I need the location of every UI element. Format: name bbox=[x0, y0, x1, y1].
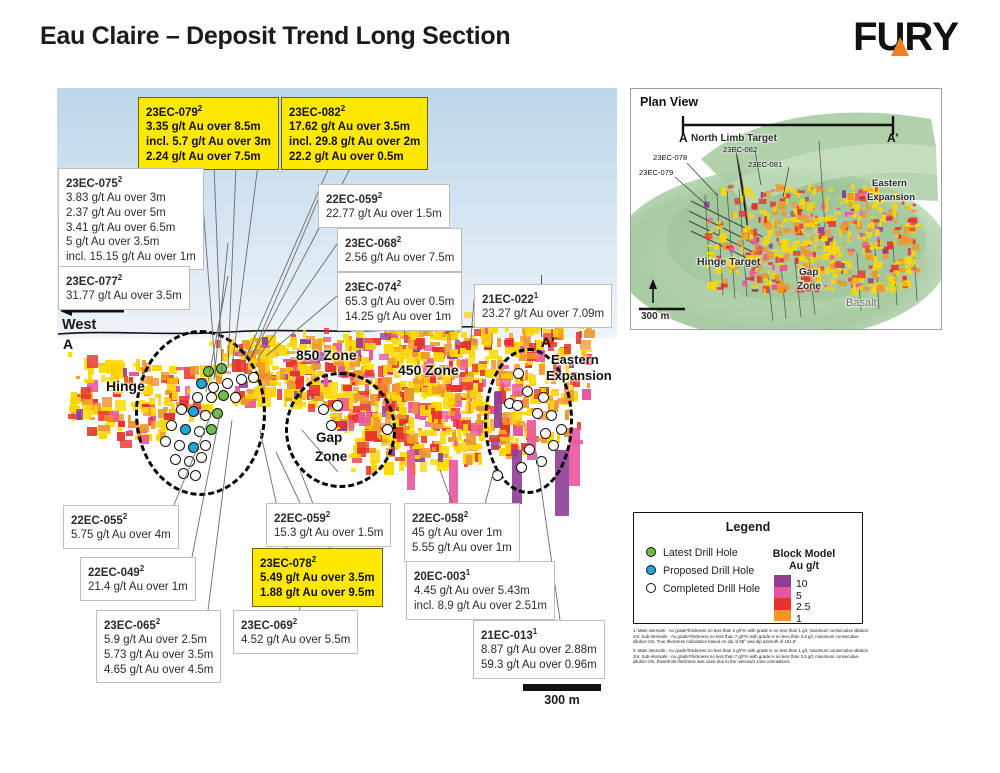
plan-view-inset: N 300 m A A' North Limb TargetEasternExp… bbox=[630, 88, 942, 330]
plan-block-model-cell bbox=[764, 289, 766, 296]
plan-block-model-cell bbox=[721, 284, 728, 288]
plan-block-model-cell bbox=[893, 210, 896, 217]
block-model-cell bbox=[268, 376, 278, 380]
drill-hole-marker-completed[interactable] bbox=[524, 444, 535, 455]
logo-accent-wedge: R bbox=[904, 17, 932, 57]
block-model-cell bbox=[446, 429, 455, 432]
callout-23ec-069: 23EC-06924.52 g/t Au over 5.5m bbox=[233, 610, 358, 654]
plan-block-model-cell bbox=[809, 202, 816, 207]
block-model-cell bbox=[404, 388, 413, 401]
plan-block-model-cell bbox=[878, 240, 881, 247]
block-model-cell bbox=[576, 332, 580, 344]
zone-label-450-zone: 450 Zone bbox=[398, 362, 459, 378]
drill-hole-marker-completed[interactable] bbox=[200, 440, 211, 451]
plan-block-model-cell bbox=[772, 265, 775, 270]
block-model-cell bbox=[115, 400, 126, 412]
plan-block-model-cell bbox=[774, 221, 777, 229]
plan-block-model-cell bbox=[862, 243, 869, 248]
plan-block-model-cell bbox=[915, 224, 921, 227]
block-model-cell bbox=[283, 359, 291, 362]
plan-block-model-cell bbox=[830, 259, 835, 263]
plan-block-model-cell bbox=[741, 246, 744, 254]
drill-hole-marker-latest[interactable] bbox=[216, 363, 227, 374]
block-model-cell bbox=[474, 329, 481, 335]
block-model-cell bbox=[461, 382, 473, 391]
plan-block-model-cell bbox=[792, 201, 797, 207]
callout-22ec-059: 22EC-059215.3 g/t Au over 1.5m bbox=[266, 503, 391, 547]
block-model-cell bbox=[461, 348, 466, 354]
plan-block-model-cell bbox=[803, 249, 811, 255]
callout-interval: 65.3 g/t Au over 0.5m bbox=[345, 295, 454, 310]
block-model-cell bbox=[478, 395, 482, 405]
block-model-cell bbox=[431, 422, 435, 429]
block-model-cell bbox=[484, 341, 491, 347]
plan-block-model-cell bbox=[878, 277, 880, 280]
plan-block-model-cell bbox=[830, 264, 836, 269]
plan-block-model-cell bbox=[771, 189, 775, 191]
block-model-high-grade-column bbox=[449, 460, 458, 504]
block-model-cell bbox=[497, 338, 501, 347]
block-model-cell bbox=[272, 366, 280, 370]
zone-label-gap: Gap bbox=[316, 430, 342, 445]
scale-bar: 300 m bbox=[523, 684, 601, 707]
plan-block-model-cell bbox=[717, 287, 724, 290]
plan-block-model-cell bbox=[751, 194, 755, 197]
callout-hole-id: 22EC-0592 bbox=[326, 189, 442, 207]
block-model-cell bbox=[379, 354, 389, 360]
callout-interval: 2.37 g/t Au over 5m bbox=[66, 206, 196, 221]
callout-interval: 14.25 g/t Au over 1m bbox=[345, 310, 454, 325]
plan-block-model-cell bbox=[775, 275, 780, 278]
plan-block-model-cell bbox=[766, 223, 773, 230]
drill-hole-marker-completed[interactable] bbox=[200, 410, 211, 421]
drill-hole-marker-latest[interactable] bbox=[212, 408, 223, 419]
plan-block-model-cell bbox=[839, 197, 842, 199]
drill-hole-marker-completed[interactable] bbox=[192, 392, 203, 403]
plan-block-model-cell bbox=[807, 226, 812, 230]
drill-hole-marker-completed[interactable] bbox=[230, 392, 241, 403]
plan-block-model-cell bbox=[889, 286, 897, 293]
plan-block-model-cell bbox=[875, 262, 882, 268]
plan-block-model-cell bbox=[811, 213, 814, 217]
plan-block-model-cell bbox=[862, 211, 867, 218]
block-model-cell bbox=[303, 330, 306, 337]
callout-interval: incl. 15.15 g/t Au over 1m bbox=[66, 250, 196, 265]
block-model-cell bbox=[582, 389, 592, 399]
block-model-cell bbox=[365, 370, 374, 377]
plan-block-model-cell bbox=[764, 216, 767, 223]
plan-block-model-cell bbox=[858, 235, 860, 239]
block-model-cell bbox=[407, 436, 416, 443]
block-model-cell bbox=[260, 345, 270, 348]
block-model-cell bbox=[277, 389, 282, 400]
plan-block-model-cell bbox=[912, 244, 920, 251]
legend-completed-hole-icon bbox=[646, 583, 656, 593]
plan-block-model-cell bbox=[719, 235, 727, 242]
plan-block-model-cell bbox=[881, 215, 885, 222]
callout-interval: 45 g/t Au over 1m bbox=[412, 526, 512, 541]
plan-label-north-limb-target: North Limb Target bbox=[691, 133, 777, 144]
block-model-cell bbox=[476, 406, 484, 411]
plan-block-model-cell bbox=[753, 229, 757, 237]
block-model-cell bbox=[399, 462, 404, 470]
block-model-cell bbox=[267, 349, 277, 357]
plan-block-model-cell bbox=[867, 207, 872, 210]
block-model-cell bbox=[469, 350, 475, 358]
callout-23ec-082: 23EC-082217.62 g/t Au over 3.5mincl. 29.… bbox=[281, 97, 428, 170]
block-model-cell bbox=[489, 350, 498, 360]
drill-hole-marker-completed[interactable] bbox=[174, 440, 185, 451]
plan-block-model-cell bbox=[729, 247, 734, 252]
block-model-cell bbox=[129, 372, 138, 376]
legend-item-label: Latest Drill Hole bbox=[663, 547, 738, 559]
plan-block-model-cell bbox=[814, 244, 817, 251]
plan-block-model-cell bbox=[895, 227, 901, 230]
plan-view-scale-label: 300 m bbox=[641, 311, 669, 322]
callout-22ec-055: 22EC-05525.75 g/t Au over 4m bbox=[63, 505, 179, 549]
legend-box: Legend Latest Drill HoleProposed Drill H… bbox=[633, 512, 863, 624]
callout-interval: 31.77 g/t Au over 3.5m bbox=[66, 289, 182, 304]
plan-block-model-cell bbox=[825, 197, 830, 200]
block-model-cell bbox=[419, 448, 431, 458]
block-model-cell bbox=[505, 338, 514, 347]
callout-20ec-003: 20EC-00314.45 g/t Au over 5.43mincl. 8.9… bbox=[406, 561, 555, 620]
drill-hole-marker-completed[interactable] bbox=[326, 420, 337, 431]
block-model-cell bbox=[395, 415, 407, 419]
plan-block-model-cell bbox=[814, 218, 819, 223]
drill-hole-marker-completed[interactable] bbox=[556, 424, 567, 435]
plan-label-expansion: Expansion bbox=[867, 192, 915, 203]
plan-block-model-cell bbox=[772, 249, 779, 252]
drill-hole-marker-completed[interactable] bbox=[513, 368, 524, 379]
plan-block-model-cell bbox=[859, 197, 865, 199]
plan-block-model-cell bbox=[751, 204, 757, 210]
drill-hole-marker-completed[interactable] bbox=[536, 456, 547, 467]
plan-block-model-cell bbox=[848, 265, 851, 268]
plan-section-marker-a-prime: A' bbox=[887, 131, 899, 145]
callout-hole-id: 22EC-0552 bbox=[71, 510, 171, 528]
block-model-cell bbox=[383, 365, 387, 375]
drill-hole-marker-proposed[interactable] bbox=[188, 406, 199, 417]
drill-hole-marker-completed[interactable] bbox=[548, 440, 559, 451]
drill-hole-marker-completed[interactable] bbox=[222, 378, 233, 389]
plan-block-model-cell bbox=[773, 206, 777, 212]
plan-block-model-cell bbox=[909, 227, 916, 231]
plan-block-model-cell bbox=[819, 217, 823, 221]
drill-hole-marker-completed[interactable] bbox=[190, 470, 201, 481]
section-marker-a: A bbox=[63, 336, 73, 352]
drill-hole-marker-completed[interactable] bbox=[248, 372, 259, 383]
drill-hole-marker-completed[interactable] bbox=[176, 404, 187, 415]
plan-block-model-cell bbox=[766, 191, 772, 194]
plan-block-model-cell bbox=[849, 201, 852, 207]
plan-hole-label-23ec-078: 23EC-078 bbox=[653, 153, 687, 162]
callout-interval: 1.88 g/t Au over 9.5m bbox=[260, 586, 375, 601]
plan-label-basalt: Basalt bbox=[846, 297, 877, 309]
plan-block-model-cell bbox=[784, 218, 789, 222]
plan-block-model-cell bbox=[875, 225, 877, 229]
plan-block-model-cell bbox=[908, 248, 911, 255]
plan-block-model-cell bbox=[828, 221, 836, 227]
plan-block-model-cell bbox=[808, 184, 812, 191]
plan-block-model-cell bbox=[810, 257, 814, 263]
plan-block-model-cell bbox=[880, 219, 882, 227]
plan-block-model-cell bbox=[863, 236, 866, 241]
block-model-cell bbox=[87, 355, 97, 367]
drill-hole-marker-completed[interactable] bbox=[236, 374, 247, 385]
block-model-cell bbox=[406, 430, 415, 434]
plan-block-model-cell bbox=[842, 190, 846, 198]
callout-hole-id: 23EC-0782 bbox=[260, 553, 375, 571]
plan-block-model-cell bbox=[793, 220, 801, 222]
plan-block-model-cell bbox=[826, 285, 829, 288]
ramp-label: 10 bbox=[796, 579, 808, 590]
drill-hole-marker-completed[interactable] bbox=[194, 426, 205, 437]
block-model-cell bbox=[468, 372, 472, 376]
plan-block-model-cell bbox=[761, 192, 763, 198]
callout-interval: 5.55 g/t Au over 1m bbox=[412, 541, 512, 556]
plan-block-model-cell bbox=[872, 287, 877, 295]
plan-block-model-cell bbox=[805, 197, 809, 202]
block-model-cell bbox=[120, 440, 131, 448]
legend-proposed-hole-icon bbox=[646, 565, 656, 575]
plan-label-zone: Zone bbox=[797, 281, 821, 292]
section-marker-a-prime: A' bbox=[541, 334, 554, 350]
block-model-cell bbox=[460, 372, 465, 377]
plan-block-model-cell bbox=[763, 247, 768, 252]
block-model-cell bbox=[72, 397, 81, 404]
block-model-cell bbox=[468, 402, 471, 413]
callout-interval: 22.2 g/t Au over 0.5m bbox=[289, 150, 420, 165]
footnote: 2. Main intervals - Au grade*thickness n… bbox=[633, 648, 873, 665]
drill-hole-marker-completed[interactable] bbox=[512, 400, 523, 411]
plan-block-model-cell bbox=[872, 223, 874, 228]
drill-hole-marker-completed[interactable] bbox=[166, 420, 177, 431]
block-model-cell bbox=[323, 337, 331, 342]
plan-block-model-cell bbox=[848, 231, 851, 237]
plan-block-model-cell bbox=[885, 287, 887, 291]
plan-block-model-cell bbox=[848, 193, 854, 200]
drill-hole-marker-completed[interactable] bbox=[540, 428, 551, 439]
drill-hole-marker-proposed[interactable] bbox=[180, 424, 191, 435]
drill-hole-marker-completed[interactable] bbox=[522, 386, 533, 397]
plan-block-model-cell bbox=[785, 284, 790, 290]
plan-block-model-cell bbox=[707, 245, 711, 247]
plan-block-model-cell bbox=[868, 278, 874, 283]
plan-block-model-cell bbox=[759, 217, 761, 223]
callout-interval: 3.83 g/t Au over 3m bbox=[66, 191, 196, 206]
plan-section-marker-a: A bbox=[679, 131, 688, 145]
callout-hole-id: 21EC-0131 bbox=[481, 625, 597, 643]
plan-block-model-cell bbox=[793, 251, 801, 256]
zone-label-expansion: Expansion bbox=[546, 368, 612, 383]
drill-hole-marker-completed[interactable] bbox=[318, 404, 329, 415]
plan-block-model-cell bbox=[900, 235, 907, 243]
plan-block-model-cell bbox=[823, 253, 830, 259]
plan-block-model-cell bbox=[874, 275, 877, 279]
plan-block-model-cell bbox=[816, 187, 820, 192]
drill-hole-marker-completed[interactable] bbox=[492, 470, 503, 481]
plan-block-model-cell bbox=[824, 245, 831, 252]
plan-block-model-cell bbox=[780, 199, 786, 202]
plan-block-model-cell bbox=[901, 224, 903, 228]
callout-interval: 4.65 g/t Au over 4.5m bbox=[104, 663, 213, 678]
plan-block-model-cell bbox=[781, 244, 789, 252]
block-model-cell bbox=[250, 338, 256, 347]
drill-hole-marker-completed[interactable] bbox=[532, 408, 543, 419]
plan-block-model-cell bbox=[899, 283, 902, 290]
plan-block-model-cell bbox=[795, 227, 798, 232]
callout-23ec-068: 23EC-06822.56 g/t Au over 7.5m bbox=[337, 228, 462, 272]
plan-block-model-cell bbox=[871, 219, 874, 222]
drill-hole-marker-completed[interactable] bbox=[516, 462, 527, 473]
plan-block-model-cell bbox=[913, 259, 916, 265]
plan-block-model-cell bbox=[779, 227, 782, 230]
plan-block-model-cell bbox=[876, 247, 884, 249]
drill-hole-marker-latest[interactable] bbox=[218, 390, 229, 401]
block-model-cell bbox=[273, 344, 282, 350]
block-model-high-grade-column bbox=[407, 450, 415, 490]
plan-block-model-cell bbox=[739, 211, 747, 217]
drill-hole-marker-latest[interactable] bbox=[203, 366, 214, 377]
plan-block-model-cell bbox=[717, 221, 721, 224]
plan-hole-label-23ec-082: 23EC-082 bbox=[723, 145, 757, 154]
plan-block-model-cell bbox=[842, 243, 845, 246]
block-model-cell bbox=[460, 360, 467, 370]
plan-block-model-cell bbox=[752, 289, 759, 292]
block-model-color-ramp bbox=[774, 575, 791, 621]
plan-block-model-cell bbox=[863, 185, 868, 191]
drill-hole-marker-proposed[interactable] bbox=[188, 442, 199, 453]
plan-block-model-cell bbox=[892, 202, 897, 209]
plan-block-model-cell bbox=[831, 279, 836, 284]
callout-interval: 3.35 g/t Au over 8.5m bbox=[146, 120, 271, 135]
plan-block-model-cell bbox=[705, 233, 713, 239]
plan-block-model-cell bbox=[894, 220, 897, 223]
plan-block-model-cell bbox=[707, 221, 711, 223]
plan-block-model-cell bbox=[825, 230, 832, 234]
plan-block-model-cell bbox=[799, 224, 803, 229]
drill-hole-marker-completed[interactable] bbox=[332, 400, 343, 411]
drill-hole-marker-completed[interactable] bbox=[538, 392, 549, 403]
plan-block-model-cell bbox=[851, 289, 859, 295]
plan-block-model-cell bbox=[792, 245, 797, 250]
plan-block-model-cell bbox=[819, 270, 825, 274]
block-model-cell bbox=[325, 362, 329, 372]
plan-block-model-cell bbox=[785, 199, 788, 204]
callout-23ec-074: 23EC-074265.3 g/t Au over 0.5m14.25 g/t … bbox=[337, 272, 462, 331]
drill-hole-marker-latest[interactable] bbox=[206, 424, 217, 435]
plan-block-model-cell bbox=[742, 281, 748, 286]
plan-block-model-cell bbox=[785, 253, 789, 260]
plan-block-model-cell bbox=[908, 219, 915, 223]
block-model-cell bbox=[87, 405, 99, 415]
plan-block-model-cell bbox=[863, 247, 866, 255]
plan-block-model-cell bbox=[851, 209, 855, 211]
plan-block-model-cell bbox=[764, 278, 767, 281]
block-model-cell bbox=[81, 387, 91, 399]
block-model-cell bbox=[407, 348, 412, 352]
plan-block-model-cell bbox=[775, 231, 782, 236]
plan-hole-label-23ec-079: 23EC-079 bbox=[639, 168, 673, 177]
ramp-label: 2.5 bbox=[796, 602, 810, 613]
callout-interval: 21.4 g/t Au over 1m bbox=[88, 580, 188, 595]
block-model-cell bbox=[466, 433, 476, 445]
plan-view-graphic: N bbox=[631, 89, 941, 329]
scale-bar-line bbox=[523, 684, 601, 691]
drill-hole-marker-completed[interactable] bbox=[178, 468, 189, 479]
drill-hole-marker-completed[interactable] bbox=[206, 392, 217, 403]
plan-block-model-cell bbox=[751, 286, 758, 288]
plan-block-model-cell bbox=[799, 255, 805, 261]
drill-hole-marker-completed[interactable] bbox=[196, 452, 207, 463]
block-model-cell bbox=[142, 360, 146, 366]
plan-block-model-cell bbox=[886, 217, 892, 221]
callout-hole-id: 22EC-0582 bbox=[412, 508, 512, 526]
block-model-cell bbox=[419, 416, 427, 420]
block-model-cell bbox=[466, 455, 472, 465]
ramp-swatch bbox=[774, 598, 791, 610]
callout-hole-id: 22EC-0492 bbox=[88, 562, 188, 580]
callout-hole-id: 23EC-0742 bbox=[345, 277, 454, 295]
drill-hole-marker-completed[interactable] bbox=[170, 454, 181, 465]
plan-block-model-cell bbox=[840, 225, 846, 230]
callout-23ec-079: 23EC-07923.35 g/t Au over 8.5mincl. 5.7 … bbox=[138, 97, 279, 170]
drill-hole-marker-completed[interactable] bbox=[160, 436, 171, 447]
plan-block-model-cell bbox=[749, 213, 754, 218]
block-model-cell bbox=[356, 338, 363, 348]
plan-block-model-cell bbox=[869, 247, 874, 250]
block-model-cell bbox=[470, 335, 475, 339]
callout-22ec-049: 22EC-049221.4 g/t Au over 1m bbox=[80, 557, 196, 601]
callout-interval: 5.75 g/t Au over 4m bbox=[71, 528, 171, 543]
drill-hole-marker-completed[interactable] bbox=[184, 456, 195, 467]
plan-block-model-cell bbox=[848, 221, 854, 224]
plan-block-model-cell bbox=[799, 206, 805, 210]
drill-hole-marker-completed[interactable] bbox=[546, 410, 557, 421]
block-model-title-line2: Au g/t bbox=[789, 560, 819, 572]
drill-hole-marker-completed[interactable] bbox=[382, 424, 393, 435]
plan-block-model-cell bbox=[848, 251, 852, 256]
plan-block-model-cell bbox=[892, 273, 897, 276]
zone-label-850-zone: 850 Zone bbox=[296, 347, 357, 363]
legend-item-label: Completed Drill Hole bbox=[663, 583, 760, 595]
plan-block-model-cell bbox=[736, 271, 739, 274]
plan-block-model-cell bbox=[867, 232, 872, 238]
plan-label-eastern: Eastern bbox=[872, 178, 907, 189]
legend-item-proposed: Proposed Drill Hole bbox=[646, 565, 754, 577]
block-model-cell bbox=[434, 331, 442, 340]
callout-hole-id: 20EC-0031 bbox=[414, 566, 547, 584]
legend-title: Legend bbox=[634, 520, 862, 534]
block-model-cell bbox=[456, 448, 461, 454]
plan-block-model-cell bbox=[857, 221, 860, 226]
plan-block-model-cell bbox=[755, 251, 762, 255]
plan-block-model-cell bbox=[818, 227, 825, 233]
drill-hole-marker-proposed[interactable] bbox=[196, 378, 207, 389]
block-model-cell bbox=[431, 408, 435, 415]
plan-block-model-cell bbox=[806, 234, 810, 237]
block-model-cell bbox=[438, 453, 443, 461]
block-model-cell bbox=[432, 347, 440, 352]
legend-item-completed: Completed Drill Hole bbox=[646, 583, 760, 595]
plan-block-model-cell bbox=[735, 198, 740, 204]
callout-23ec-077: 23EC-077231.77 g/t Au over 3.5m bbox=[58, 266, 190, 310]
plan-view-title: Plan View bbox=[640, 95, 698, 109]
plan-block-model-cell bbox=[797, 190, 805, 193]
plan-block-model-cell bbox=[876, 287, 883, 290]
callout-interval: 8.87 g/t Au over 2.88m bbox=[481, 643, 597, 658]
